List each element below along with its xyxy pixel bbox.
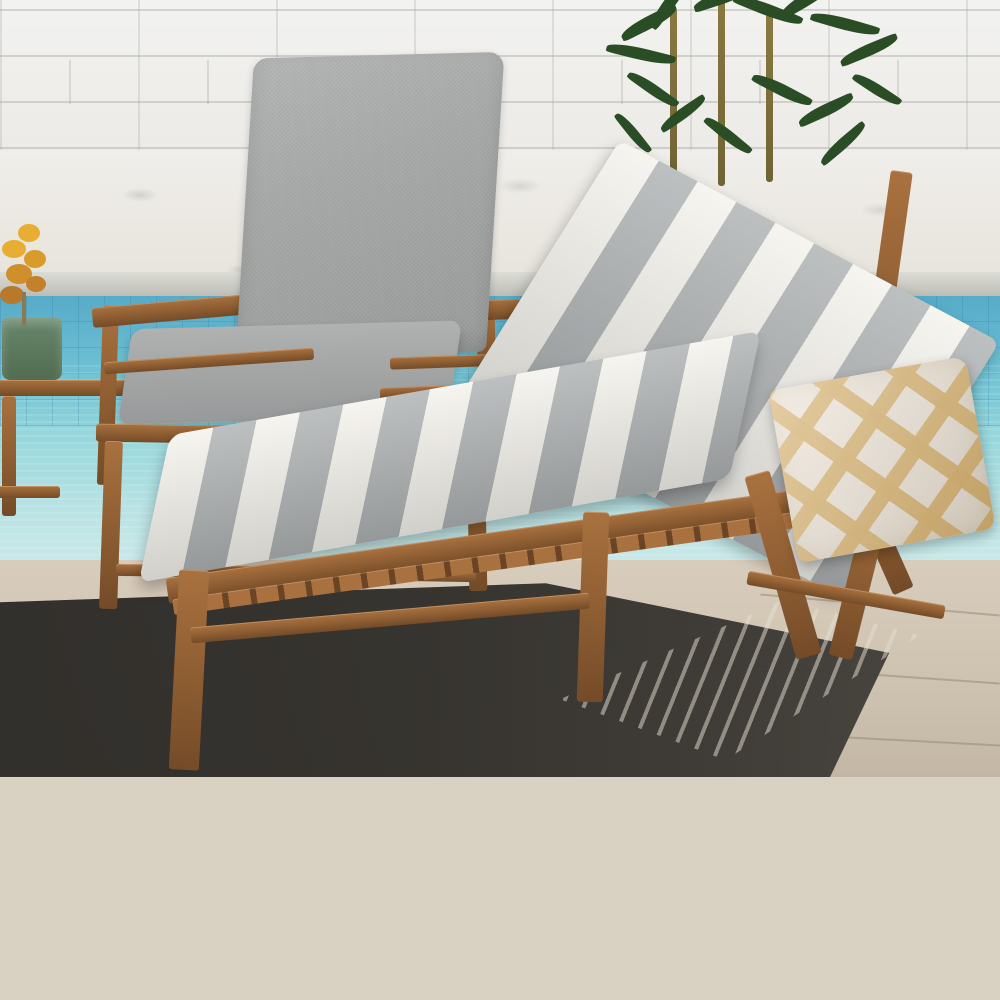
promo-banner-image: Build Your Outdoor Oasis Honeycomb patio…: [0, 0, 1000, 1000]
text-banner-band: Build Your Outdoor Oasis Honeycomb patio…: [0, 777, 1000, 1000]
patio-lifestyle-photo: [0, 0, 1000, 777]
chaise-lounge: [150, 140, 1000, 700]
geometric-throw-pillow: [768, 356, 995, 563]
green-glass-vase: [2, 318, 62, 380]
